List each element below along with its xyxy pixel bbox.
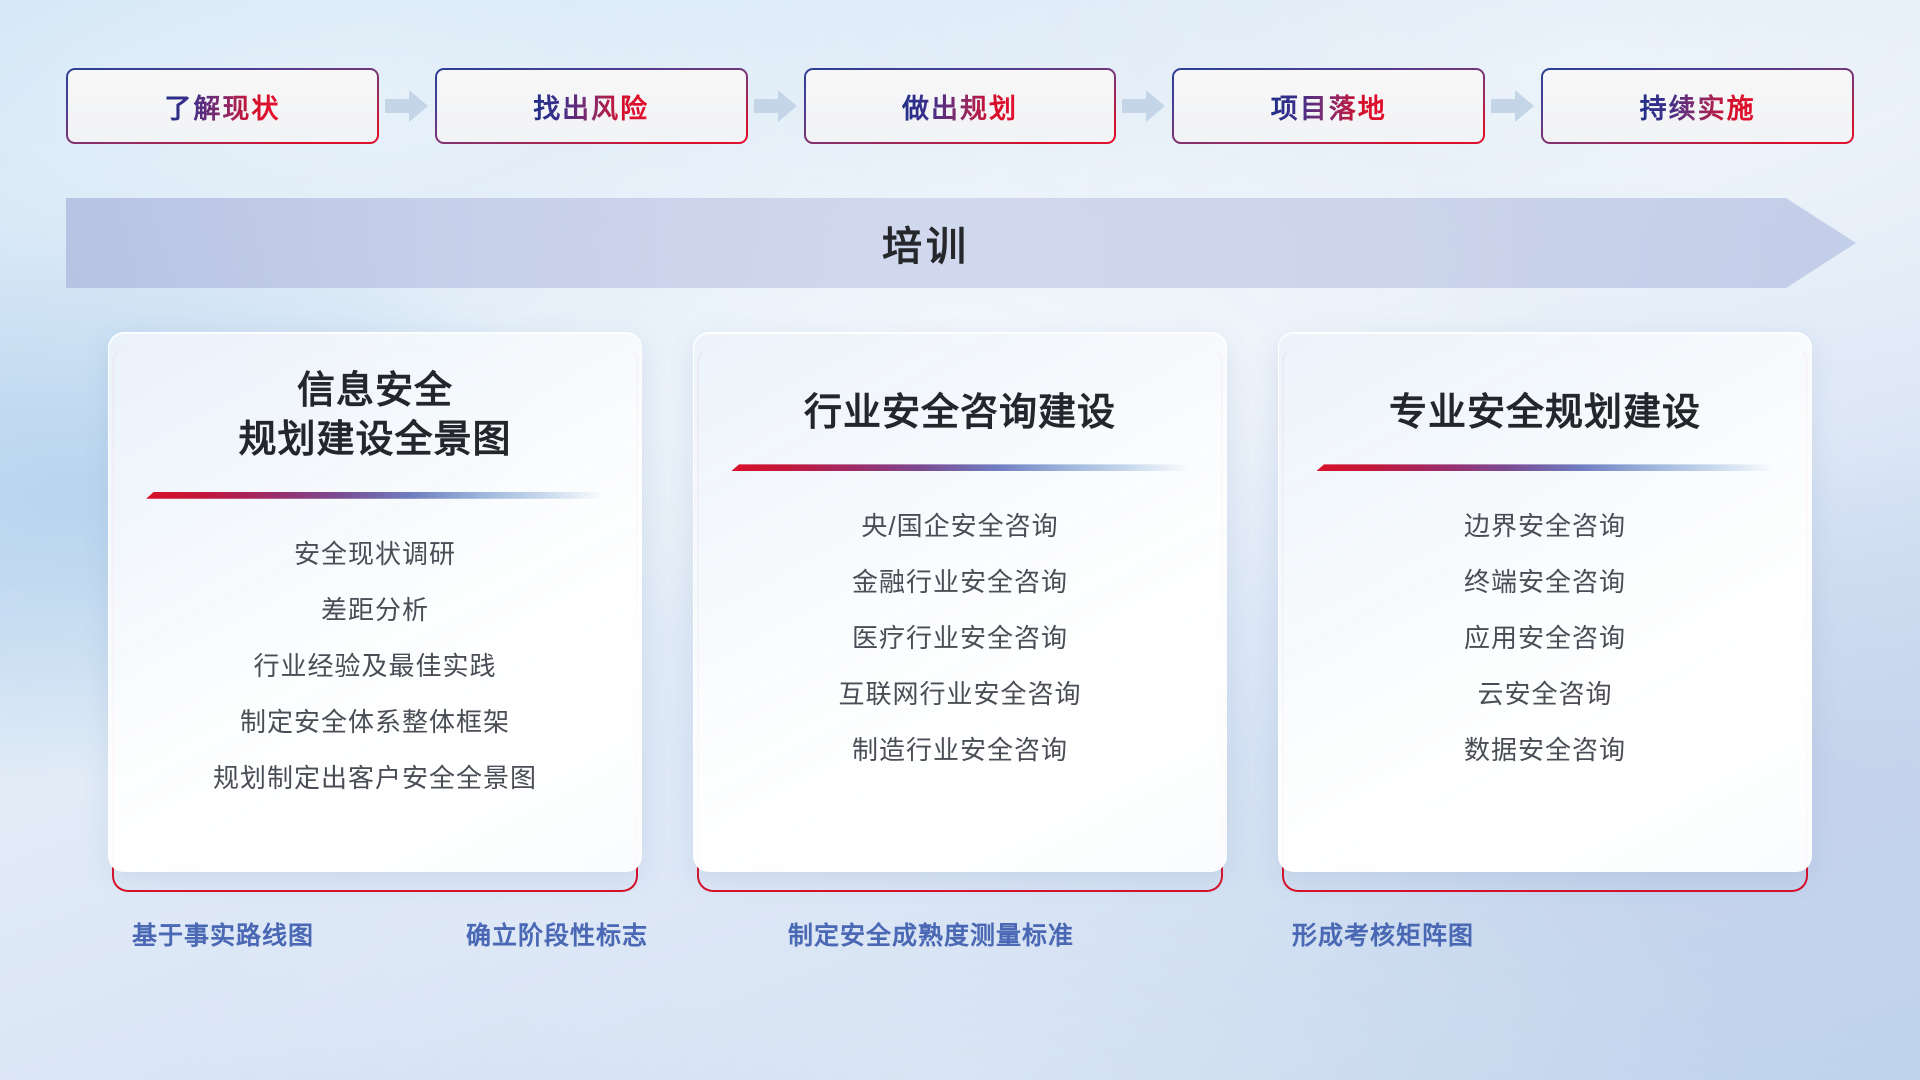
step-box-4-inner: 项目落地 xyxy=(1174,70,1483,142)
card-3[interactable]: 专业安全规划建设 边界安全咨询 终端安全咨询 应用安全咨询 云安全咨询 数据安全… xyxy=(1278,332,1812,892)
card-1-body: 信息安全 规划建设全景图 安全现状调研 差距分析 行业经验及最佳实践 制定安全体… xyxy=(108,332,642,872)
step-box-2[interactable]: 找出风险 xyxy=(435,68,748,144)
card-2-divider xyxy=(731,464,1189,471)
card-3-divider xyxy=(1316,464,1774,471)
list-item: 央/国企安全咨询 xyxy=(861,501,1058,551)
card-3-body: 专业安全规划建设 边界安全咨询 终端安全咨询 应用安全咨询 云安全咨询 数据安全… xyxy=(1278,332,1812,872)
card-2-title: 行业安全咨询建设 xyxy=(804,367,1116,438)
card-3-list: 边界安全咨询 终端安全咨询 应用安全咨询 云安全咨询 数据安全咨询 xyxy=(1307,501,1783,775)
card-1[interactable]: 信息安全 规划建设全景图 安全现状调研 差距分析 行业经验及最佳实践 制定安全体… xyxy=(108,332,642,892)
list-item: 互联网行业安全咨询 xyxy=(838,669,1081,719)
card-1-divider xyxy=(146,492,604,499)
list-item: 医疗行业安全咨询 xyxy=(852,613,1068,663)
list-item: 金融行业安全咨询 xyxy=(852,557,1068,607)
list-item: 规划制定出客户安全全景图 xyxy=(213,753,537,803)
list-item: 制造行业安全咨询 xyxy=(852,725,1068,775)
step-label-3: 做出规划 xyxy=(902,87,1018,126)
training-banner: 培训 xyxy=(66,198,1856,288)
step-box-3-inner: 做出规划 xyxy=(806,70,1115,142)
card-1-title: 信息安全 规划建设全景图 xyxy=(238,367,511,466)
footnote-2: 确立阶段性标志 xyxy=(466,916,648,952)
step-box-3[interactable]: 做出规划 xyxy=(804,68,1117,144)
step-label-4: 项目落地 xyxy=(1271,87,1387,126)
step-label-2: 找出风险 xyxy=(533,87,649,126)
slide-canvas: 了解现状 找出风险 做出规划 xyxy=(0,0,1920,1080)
banner-title: 培训 xyxy=(66,198,1856,288)
list-item: 行业经验及最佳实践 xyxy=(253,641,496,691)
card-2[interactable]: 行业安全咨询建设 央/国企安全咨询 金融行业安全咨询 医疗行业安全咨询 互联网行… xyxy=(693,332,1227,892)
step-label-5: 持续实施 xyxy=(1640,87,1756,126)
card-2-list: 央/国企安全咨询 金融行业安全咨询 医疗行业安全咨询 互联网行业安全咨询 制造行… xyxy=(722,501,1198,775)
card-2-body: 行业安全咨询建设 央/国企安全咨询 金融行业安全咨询 医疗行业安全咨询 互联网行… xyxy=(693,332,1227,872)
footnote-row: 基于事实路线图 确立阶段性标志 制定安全成熟度测量标准 形成考核矩阵图 xyxy=(0,916,1920,960)
step-box-5-inner: 持续实施 xyxy=(1543,70,1852,142)
step-box-1[interactable]: 了解现状 xyxy=(66,68,379,144)
arrow-right-icon xyxy=(1116,86,1172,126)
arrow-right-icon xyxy=(748,86,804,126)
list-item: 制定安全体系整体框架 xyxy=(240,697,510,747)
card-row: 信息安全 规划建设全景图 安全现状调研 差距分析 行业经验及最佳实践 制定安全体… xyxy=(108,332,1812,892)
card-3-title: 专业安全规划建设 xyxy=(1389,367,1701,438)
card-1-list: 安全现状调研 差距分析 行业经验及最佳实践 制定安全体系整体框架 规划制定出客户… xyxy=(137,529,613,803)
list-item: 终端安全咨询 xyxy=(1464,557,1626,607)
arrow-right-icon xyxy=(379,86,435,126)
footnote-3: 制定安全成熟度测量标准 xyxy=(788,916,1074,952)
list-item: 应用安全咨询 xyxy=(1464,613,1626,663)
arrow-right-icon xyxy=(1485,86,1541,126)
list-item: 云安全咨询 xyxy=(1477,669,1612,719)
step-label-1: 了解现状 xyxy=(164,87,280,126)
step-box-1-inner: 了解现状 xyxy=(68,70,377,142)
list-item: 边界安全咨询 xyxy=(1464,501,1626,551)
list-item: 安全现状调研 xyxy=(294,529,456,579)
step-box-4[interactable]: 项目落地 xyxy=(1172,68,1485,144)
list-item: 差距分析 xyxy=(321,585,429,635)
step-box-5[interactable]: 持续实施 xyxy=(1541,68,1854,144)
list-item: 数据安全咨询 xyxy=(1464,725,1626,775)
footnote-1: 基于事实路线图 xyxy=(132,916,314,952)
process-step-row: 了解现状 找出风险 做出规划 xyxy=(66,68,1854,144)
step-box-2-inner: 找出风险 xyxy=(437,70,746,142)
footnote-4: 形成考核矩阵图 xyxy=(1292,916,1474,952)
